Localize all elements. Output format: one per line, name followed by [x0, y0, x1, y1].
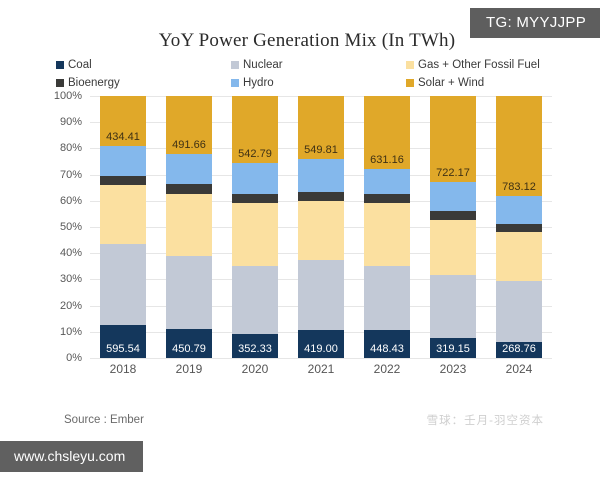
bar-column[interactable]: 542.79352.33 — [232, 96, 278, 358]
bar-segment[interactable]: 722.17 — [430, 96, 476, 182]
legend-item-bioenergy[interactable]: Bioenergy — [56, 74, 231, 92]
bar-value-label: 631.16 — [364, 154, 410, 166]
bar-group: 434.41595.54491.66450.79542.79352.33549.… — [90, 96, 552, 358]
x-axis-tick: 2021 — [298, 362, 344, 376]
y-axis-tick: 0% — [66, 352, 82, 364]
y-axis-tick: 60% — [60, 195, 82, 207]
bar-segment[interactable] — [166, 194, 212, 256]
y-axis-tick: 10% — [60, 326, 82, 338]
x-axis-tick: 2023 — [430, 362, 476, 376]
y-axis-tick: 50% — [60, 221, 82, 233]
bar-column[interactable]: 549.81419.00 — [298, 96, 344, 358]
source-note: Source : Ember — [64, 414, 144, 426]
bar-segment[interactable] — [298, 260, 344, 331]
bar-value-label: 448.43 — [364, 343, 410, 355]
bar-segment[interactable]: 595.54 — [100, 325, 146, 358]
watermark-text: 雪球：壬月-羽空资本 — [427, 412, 544, 428]
bar-value-label: 783.12 — [496, 181, 542, 193]
bar-value-label: 352.33 — [232, 343, 278, 355]
bar-value-label: 542.79 — [232, 148, 278, 160]
bar-segment[interactable] — [100, 146, 146, 176]
bar-segment[interactable] — [100, 185, 146, 244]
bar-segment[interactable]: 450.79 — [166, 329, 212, 358]
x-axis-tick: 2018 — [100, 362, 146, 376]
bar-segment[interactable]: 491.66 — [166, 96, 212, 154]
bar-segment[interactable] — [100, 176, 146, 185]
legend-label-bioenergy: Bioenergy — [68, 77, 120, 89]
bar-segment[interactable]: 448.43 — [364, 330, 410, 358]
bar-segment[interactable] — [298, 201, 344, 260]
bar-segment[interactable] — [496, 196, 542, 225]
bar-value-label: 419.00 — [298, 343, 344, 355]
bar-value-label: 722.17 — [430, 167, 476, 179]
legend-item-gas[interactable]: Gas + Other Fossil Fuel — [406, 56, 596, 74]
legend-item-solar-wind[interactable]: Solar + Wind — [406, 74, 596, 92]
bar-segment[interactable]: 352.33 — [232, 334, 278, 358]
legend-swatch-nuclear — [231, 61, 239, 69]
bar-segment[interactable]: 549.81 — [298, 96, 344, 159]
legend-label-solar-wind: Solar + Wind — [418, 77, 484, 89]
plot-area: 0%10%20%30%40%50%60%70%80%90%100% 434.41… — [48, 96, 556, 386]
x-axis-tick: 2020 — [232, 362, 278, 376]
legend-swatch-bioenergy — [56, 79, 64, 87]
legend-label-hydro: Hydro — [243, 77, 274, 89]
legend-label-nuclear: Nuclear — [243, 59, 283, 71]
x-axis-tick: 2024 — [496, 362, 542, 376]
bar-column[interactable]: 722.17319.15 — [430, 96, 476, 358]
bar-segment[interactable] — [232, 163, 278, 194]
bar-segment[interactable] — [496, 224, 542, 232]
bar-value-label: 268.76 — [496, 343, 542, 355]
bar-value-label: 319.15 — [430, 343, 476, 355]
y-axis-tick: 100% — [54, 90, 82, 102]
y-axis-tick: 90% — [60, 116, 82, 128]
gridline — [90, 358, 552, 359]
bar-segment[interactable] — [496, 232, 542, 280]
bar-segment[interactable] — [430, 182, 476, 211]
bar-value-label: 491.66 — [166, 139, 212, 151]
bar-segment[interactable] — [430, 220, 476, 275]
bar-segment[interactable]: 319.15 — [430, 338, 476, 358]
bar-column[interactable]: 783.12268.76 — [496, 96, 542, 358]
legend-swatch-coal — [56, 61, 64, 69]
bar-column[interactable]: 434.41595.54 — [100, 96, 146, 358]
legend-item-hydro[interactable]: Hydro — [231, 74, 406, 92]
x-axis-tick: 2019 — [166, 362, 212, 376]
bar-value-label: 549.81 — [298, 144, 344, 156]
bar-segment[interactable] — [430, 211, 476, 220]
bar-column[interactable]: 491.66450.79 — [166, 96, 212, 358]
bar-segment[interactable] — [298, 192, 344, 201]
bar-segment[interactable] — [364, 169, 410, 194]
bar-segment[interactable]: 434.41 — [100, 96, 146, 146]
bar-segment[interactable]: 542.79 — [232, 96, 278, 163]
bar-value-label: 595.54 — [100, 343, 146, 355]
site-url-banner: www.chsleyu.com — [0, 441, 143, 472]
bar-segment[interactable] — [364, 194, 410, 203]
bar-segment[interactable]: 268.76 — [496, 342, 542, 358]
bar-value-label: 450.79 — [166, 343, 212, 355]
chart-card: YoY Power Generation Mix (In TWh) Coal N… — [30, 26, 570, 444]
bar-segment[interactable]: 631.16 — [364, 96, 410, 169]
legend-swatch-gas — [406, 61, 414, 69]
legend-swatch-hydro — [231, 79, 239, 87]
bar-segment[interactable] — [232, 194, 278, 203]
bar-segment[interactable] — [430, 275, 476, 338]
bar-segment[interactable] — [232, 203, 278, 266]
bar-segment[interactable]: 419.00 — [298, 330, 344, 358]
y-axis-tick: 40% — [60, 247, 82, 259]
bar-segment[interactable] — [100, 244, 146, 325]
x-axis: 2018201920202021202220232024 — [90, 362, 552, 376]
y-axis-tick: 30% — [60, 273, 82, 285]
y-axis: 0%10%20%30%40%50%60%70%80%90%100% — [48, 96, 86, 358]
bar-segment[interactable] — [364, 266, 410, 330]
chart-legend: Coal Nuclear Gas + Other Fossil Fuel Bio… — [30, 56, 570, 92]
legend-swatch-solar-wind — [406, 79, 414, 87]
bar-value-label: 434.41 — [100, 131, 146, 143]
bar-segment[interactable] — [166, 184, 212, 194]
x-axis-tick: 2022 — [364, 362, 410, 376]
bar-segment[interactable] — [298, 159, 344, 192]
legend-label-coal: Coal — [68, 59, 92, 71]
bar-column[interactable]: 631.16448.43 — [364, 96, 410, 358]
legend-item-nuclear[interactable]: Nuclear — [231, 56, 406, 74]
y-axis-tick: 80% — [60, 142, 82, 154]
y-axis-tick: 70% — [60, 169, 82, 181]
bar-segment[interactable] — [166, 256, 212, 329]
bar-segment[interactable] — [166, 154, 212, 184]
bar-segment[interactable]: 783.12 — [496, 96, 542, 196]
y-axis-tick: 20% — [60, 300, 82, 312]
bar-segment[interactable] — [496, 281, 542, 343]
tg-tag-banner: TG: MYYJJPP — [470, 8, 600, 38]
legend-item-coal[interactable]: Coal — [56, 56, 231, 74]
bar-segment[interactable] — [232, 266, 278, 334]
legend-label-gas: Gas + Other Fossil Fuel — [418, 59, 540, 71]
bar-segment[interactable] — [364, 203, 410, 266]
